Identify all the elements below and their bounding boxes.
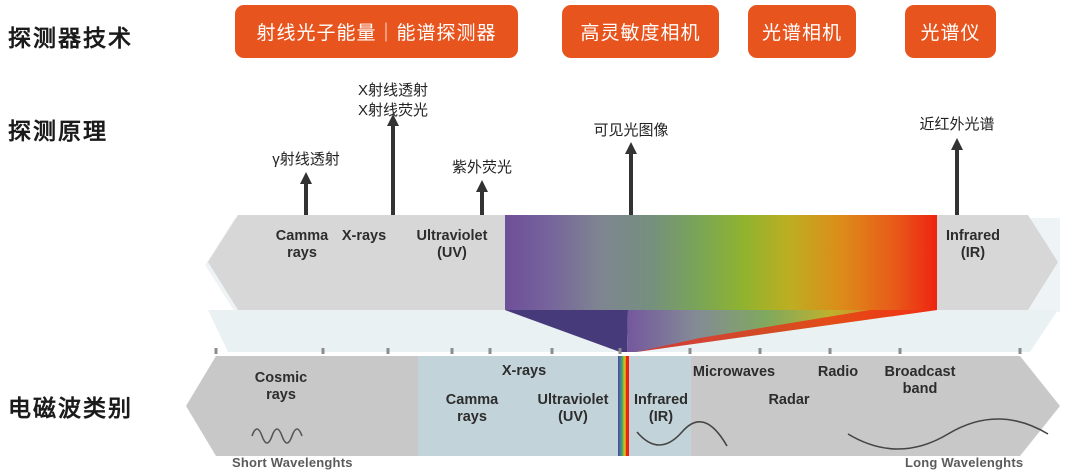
visible-spectrum-gradient: [505, 215, 937, 310]
principle-label-3: 紫外荧光: [452, 158, 512, 178]
em-bar-tick-11: [899, 348, 902, 354]
tech-button-2[interactable]: 高灵敏度相机: [562, 5, 719, 58]
em-bar-ticks: [215, 348, 1022, 354]
em-band-label-2: X-rays: [502, 363, 546, 380]
infographic-canvas: 探测器技术 探测原理 电磁波类别 射线光子能量｜能谱探测器高灵敏度相机光谱相机光…: [0, 0, 1080, 471]
em-bar-tick-2: [322, 348, 325, 354]
em-bar-tick-12: [1019, 348, 1022, 354]
row-title-detector-tech: 探测器技术: [8, 19, 133, 53]
em-bar-tick-10: [829, 348, 832, 354]
em-bar-red-line: [626, 356, 629, 456]
middle-band-label-1: Cammarays: [276, 228, 328, 262]
em-bar-tick-9: [759, 348, 762, 354]
em-bar-tick-8: [689, 348, 692, 354]
em-band-label-8: Broadcastband: [885, 364, 956, 398]
middle-band-label-4: Infrared(IR): [946, 228, 1000, 262]
em-bar-tick-5: [489, 348, 492, 354]
em-band-label-7: Radio: [818, 364, 858, 381]
em-bar-tick-4: [451, 348, 454, 354]
em-band-label-1: Cosmicrays: [255, 370, 307, 404]
em-bar-tick-7: [619, 348, 622, 354]
em-bar-tick-6: [551, 348, 554, 354]
em-band-label-9: Radar: [768, 392, 809, 409]
middle-band-label-2: X-rays: [342, 228, 386, 245]
principle-label-5: 近红外光谱: [919, 115, 994, 135]
em-bar-tick-1: [215, 348, 218, 354]
principle-label-1: γ射线透射: [272, 150, 340, 170]
row-title-detect-principle: 探测原理: [8, 112, 108, 146]
principle-label-4: 可见光图像: [593, 121, 668, 141]
em-band-label-6: Microwaves: [693, 364, 775, 381]
tech-button-4[interactable]: 光谱仪: [905, 5, 996, 58]
short-wavelengths-label: Short Wavelenghts: [232, 455, 353, 470]
middle-band-label-3: Ultraviolet(UV): [417, 228, 488, 262]
em-bar-tick-3: [387, 348, 390, 354]
em-band-label-4: Ultraviolet(UV): [538, 392, 609, 426]
tech-button-3[interactable]: 光谱相机: [748, 5, 856, 58]
long-wavelengths-label: Long Wavelenghts: [905, 455, 1023, 470]
tech-button-1[interactable]: 射线光子能量｜能谱探测器: [235, 5, 518, 58]
em-band-label-3: Cammarays: [446, 392, 498, 426]
em-band-label-5: Infrared(IR): [634, 392, 688, 426]
